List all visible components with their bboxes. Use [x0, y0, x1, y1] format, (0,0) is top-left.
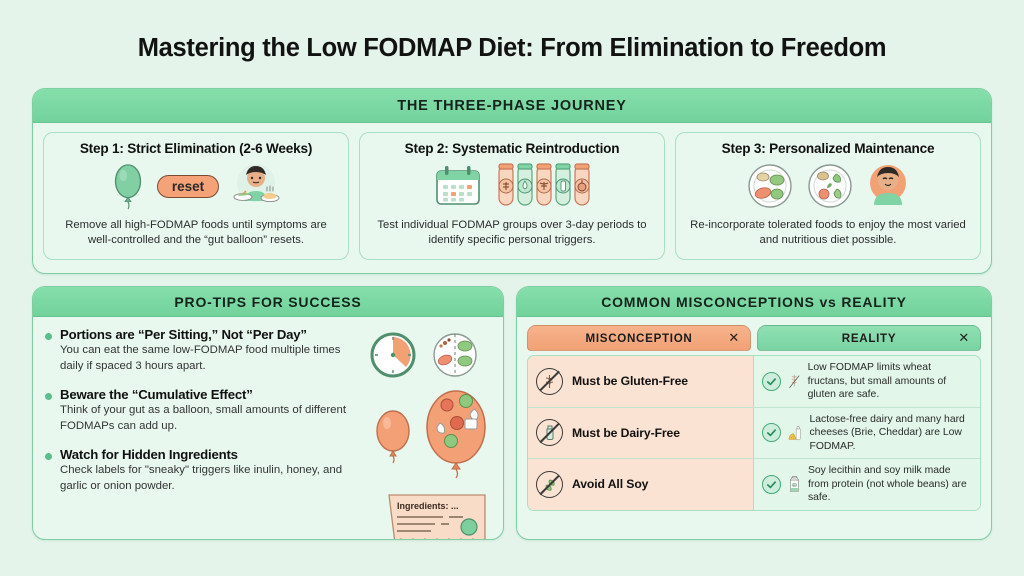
step-card-3[interactable]: Step 3: Personalized Maintenance	[675, 132, 981, 260]
step-card-2[interactable]: Step 2: Systematic Reintroduction	[359, 132, 665, 260]
tip-1-heading: Portions are “Per Sitting,” Not “Per Day…	[60, 327, 361, 342]
tip-2-body: Think of your gut as a balloon, small am…	[60, 403, 361, 434]
step-3-title: Step 3: Personalized Maintenance	[722, 141, 935, 156]
reset-pill-button[interactable]: reset	[157, 175, 219, 198]
step-2-description: Test individual FODMAP groups over 3-day…	[370, 218, 654, 248]
misconceptions-panel: COMMON MISCONCEPTIONS vs REALITY MISCONC…	[516, 286, 992, 540]
green-balloon-icon	[111, 162, 145, 210]
tip-item-cumulative[interactable]: Beware the “Cumulative Effect” Think of …	[45, 387, 361, 434]
person-with-meals-icon	[231, 163, 281, 209]
tip-2-heading: Beware the “Cumulative Effect”	[60, 387, 361, 402]
column-header-reality-label: REALITY	[842, 332, 897, 345]
misconception-label-1: Must be Gluten-Free	[572, 374, 688, 388]
step-1-title: Step 1: Strict Elimination (2-6 Weeks)	[80, 141, 312, 156]
step-2-artwork	[432, 158, 592, 214]
tip-3-body: Check labels for "sneaky" triggers like …	[60, 463, 361, 494]
calendar-icon	[432, 163, 484, 209]
column-header-misconception-label: MISCONCEPTION	[585, 332, 692, 345]
soy-milk-carton-icon: SOY	[788, 466, 801, 502]
no-milk-icon	[536, 419, 563, 446]
bullet-dot-icon	[45, 453, 52, 460]
no-soy-icon	[536, 471, 563, 498]
no-wheat-icon	[536, 368, 563, 395]
divided-plate-icon	[434, 334, 476, 376]
step-1-artwork: reset	[111, 158, 281, 214]
close-icon[interactable]: ✕	[728, 330, 740, 346]
step-3-artwork	[746, 158, 910, 214]
misconceptions-header: COMMON MISCONCEPTIONS vs REALITY	[517, 287, 991, 317]
table-row[interactable]: Avoid All Soy SOY Soy lecithin and soy	[528, 459, 980, 510]
step-1-description: Remove all high-FODMAP foods until sympt…	[54, 218, 338, 248]
step-2-title: Step 2: Systematic Reintroduction	[405, 141, 620, 156]
bullet-dot-icon	[45, 393, 52, 400]
smiling-person-icon	[866, 163, 910, 209]
wheat-icon	[788, 364, 801, 398]
plate-of-food-icon	[746, 163, 794, 209]
pro-tips-artwork: Ingredients: ...	[361, 327, 491, 531]
test-tube-bottle-icon	[556, 164, 570, 205]
misconception-label-2: Must be Dairy-Free	[572, 426, 680, 440]
test-tube-milk-drop-icon	[518, 164, 532, 205]
table-row[interactable]: Must be Gluten-Free Low FODMAP limits wh…	[528, 356, 980, 408]
ingredients-label-text: Ingredients: ...	[397, 501, 459, 511]
cell-misconception-2: Must be Dairy-Free	[528, 408, 754, 459]
small-orange-balloon-icon	[377, 411, 409, 463]
check-circle-icon	[762, 372, 781, 391]
pro-tips-list: Portions are “Per Sitting,” Not “Per Day…	[45, 327, 361, 531]
three-phase-journey-panel: THE THREE-PHASE JOURNEY Step 1: Strict E…	[32, 88, 992, 274]
close-icon[interactable]: ✕	[958, 330, 970, 346]
tip-item-portions[interactable]: Portions are “Per Sitting,” Not “Per Day…	[45, 327, 361, 374]
reality-text-3: Soy lecithin and soy milk made from prot…	[808, 464, 972, 505]
step-card-1[interactable]: Step 1: Strict Elimination (2-6 Weeks) r…	[43, 132, 349, 260]
fodmap-test-tubes-icon	[496, 162, 592, 210]
pro-tips-panel: PRO-TIPS FOR SUCCESS Portions are “Per S…	[32, 286, 504, 540]
tip-1-body: You can eat the same low-FODMAP food mul…	[60, 343, 361, 374]
page-title: Mastering the Low FODMAP Diet: From Elim…	[0, 0, 1024, 76]
misconception-label-3: Avoid All Soy	[572, 477, 648, 491]
check-circle-icon	[762, 423, 781, 442]
test-tube-wheat-icon	[499, 164, 513, 205]
table-row[interactable]: Must be Dairy-Free Lactose-free dairy an…	[528, 408, 980, 460]
test-tube-onion-icon	[575, 164, 589, 205]
clock-icon	[372, 334, 414, 376]
tip-item-hidden-ingredients[interactable]: Watch for Hidden Ingredients Check label…	[45, 447, 361, 494]
plate-of-vegetables-icon	[806, 163, 854, 209]
large-balloon-with-foods-icon	[427, 391, 485, 478]
column-header-misconception[interactable]: MISCONCEPTION ✕	[527, 325, 751, 351]
cell-reality-3: SOY Soy lecithin and soy milk made from …	[754, 459, 980, 510]
three-phase-journey-header: THE THREE-PHASE JOURNEY	[33, 89, 991, 123]
step-3-description: Re-incorporate tolerated foods to enjoy …	[686, 218, 970, 248]
reality-text-1: Low FODMAP limits wheat fructans, but sm…	[808, 361, 972, 402]
cell-misconception-3: Avoid All Soy	[528, 459, 754, 510]
cell-misconception-1: Must be Gluten-Free	[528, 356, 754, 407]
cheese-and-milk-icon	[788, 416, 802, 450]
tip-3-heading: Watch for Hidden Ingredients	[60, 447, 361, 462]
test-tube-fructose-icon	[537, 164, 551, 205]
reality-text-2: Lactose-free dairy and many hard cheeses…	[809, 413, 972, 454]
column-header-reality[interactable]: REALITY ✕	[757, 325, 981, 351]
pro-tips-header: PRO-TIPS FOR SUCCESS	[33, 287, 503, 317]
check-circle-icon	[762, 475, 781, 494]
cell-reality-2: Lactose-free dairy and many hard cheeses…	[754, 408, 980, 459]
cell-reality-1: Low FODMAP limits wheat fructans, but sm…	[754, 356, 980, 407]
ingredients-label-icon: Ingredients: ...	[389, 495, 485, 540]
bullet-dot-icon	[45, 333, 52, 340]
